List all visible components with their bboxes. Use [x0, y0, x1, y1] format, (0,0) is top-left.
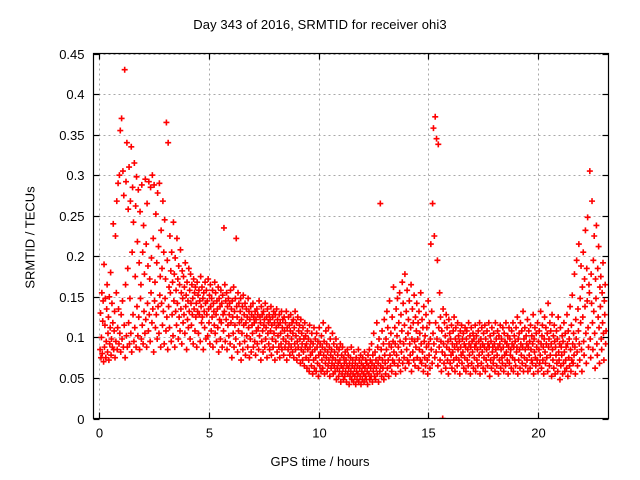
- svg-text:0.4: 0.4: [66, 87, 84, 102]
- svg-text:0.35: 0.35: [59, 128, 84, 143]
- chart-figure: Day 343 of 2016, SRMTID for receiver ohi…: [0, 0, 640, 480]
- svg-text:5: 5: [206, 426, 213, 441]
- svg-text:0.2: 0.2: [66, 249, 84, 264]
- svg-text:0.25: 0.25: [59, 209, 84, 224]
- svg-text:20: 20: [531, 426, 545, 441]
- svg-text:0: 0: [77, 412, 84, 427]
- tick-labels: 00.050.10.150.20.250.30.350.40.450510152…: [59, 47, 546, 441]
- svg-text:0: 0: [96, 426, 103, 441]
- svg-text:0.3: 0.3: [66, 168, 84, 183]
- chart-title: Day 343 of 2016, SRMTID for receiver ohi…: [0, 17, 640, 32]
- svg-text:0.15: 0.15: [59, 290, 84, 305]
- svg-text:10: 10: [312, 426, 326, 441]
- svg-text:0.1: 0.1: [66, 330, 84, 345]
- data-points: [97, 67, 609, 422]
- svg-text:0.45: 0.45: [59, 47, 84, 62]
- svg-text:15: 15: [421, 426, 435, 441]
- svg-text:0.05: 0.05: [59, 371, 84, 386]
- scatter-plot-canvas: 00.050.10.150.20.250.30.350.40.450510152…: [0, 0, 640, 480]
- x-axis-label: GPS time / hours: [0, 454, 640, 469]
- y-axis-label: SRMTID / TECUs: [23, 148, 38, 328]
